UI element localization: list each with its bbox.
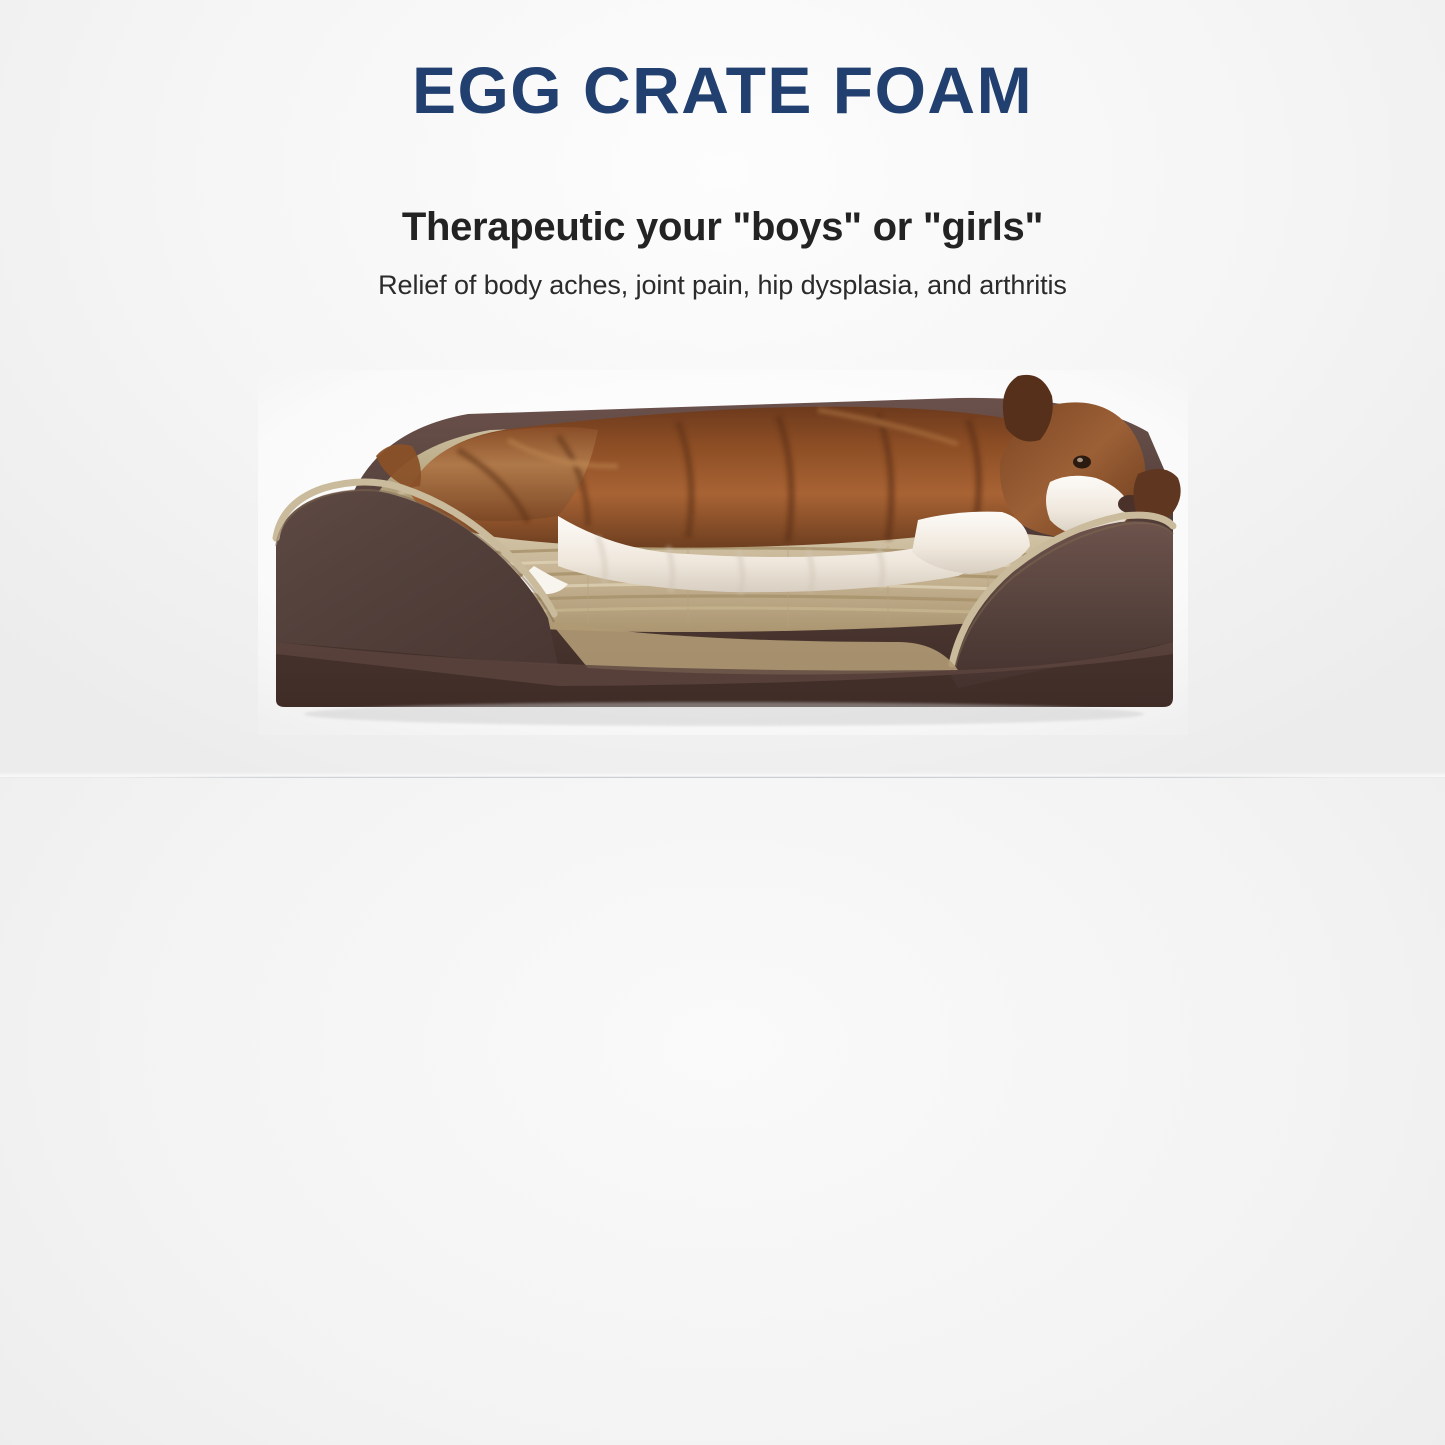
- product-photo-illustration: [258, 370, 1188, 735]
- section-therapeutic: EGG CRATE FOAM Therapeutic your "boys" o…: [0, 0, 1445, 778]
- page-title: EGG CRATE FOAM: [0, 52, 1445, 128]
- dog-on-orthopedic-bed-photo: [258, 370, 1188, 735]
- section-airflow: INCREASED AIRFLOW: [0, 778, 1445, 1445]
- dog-ear-left: [1003, 375, 1053, 442]
- infographic-page: EGG CRATE FOAM Therapeutic your "boys" o…: [0, 0, 1445, 1445]
- therapeutic-headline: Therapeutic your "boys" or "girls": [0, 205, 1445, 250]
- therapeutic-description: Relief of body aches, joint pain, hip dy…: [0, 270, 1445, 301]
- dog-eye: [1073, 456, 1091, 469]
